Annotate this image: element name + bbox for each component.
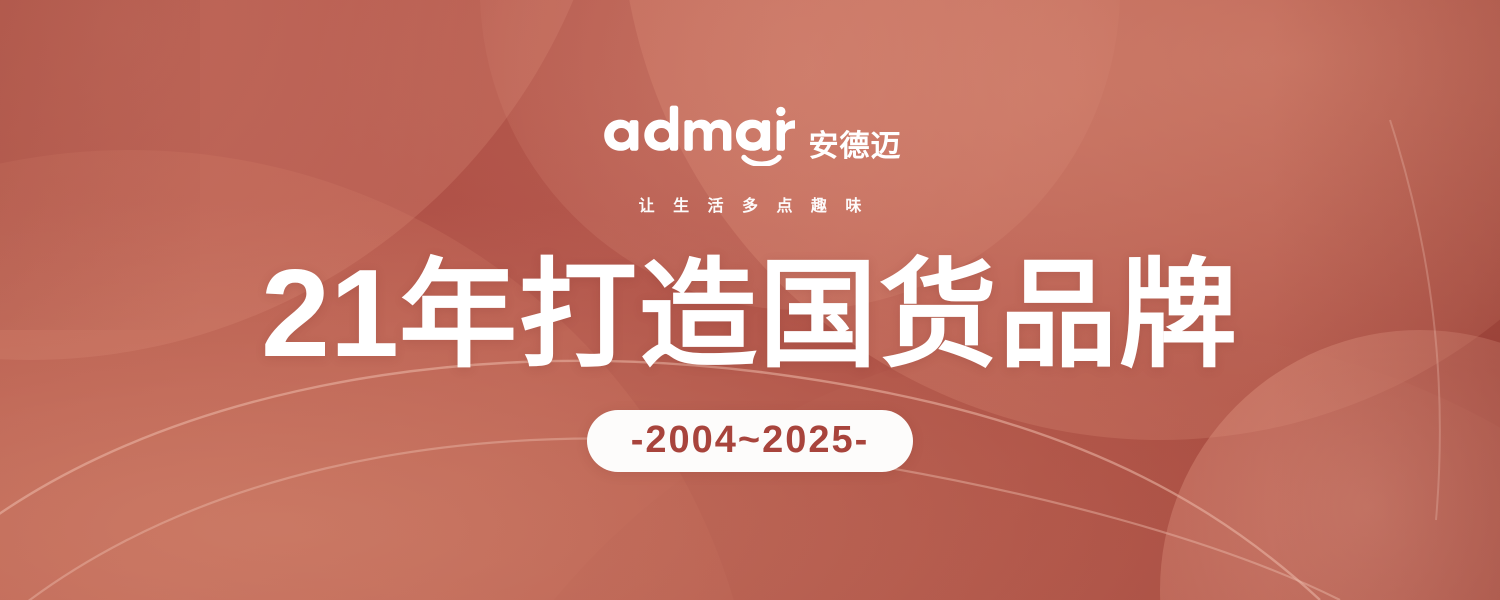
- brand-logo: 安德迈: [599, 104, 902, 166]
- headline-years-number: 21: [261, 245, 399, 383]
- brand-name-cn: 安德迈: [809, 132, 902, 166]
- year-range-badge: -2004~2025-: [587, 410, 914, 472]
- smile-curve-icon: [744, 158, 779, 165]
- headline-text: 年打造国货品牌: [399, 250, 1239, 382]
- brand-banner: 安德迈 让 生 活 多 点 趣 味 21年打造国货品牌 -2004~2025-: [0, 0, 1500, 600]
- banner-content: 安德迈 让 生 活 多 点 趣 味 21年打造国货品牌 -2004~2025-: [0, 0, 1500, 600]
- admair-wordmark-icon: [599, 104, 795, 166]
- brand-tagline: 让 生 活 多 点 趣 味: [632, 192, 869, 216]
- page-title: 21年打造国货品牌: [261, 252, 1239, 376]
